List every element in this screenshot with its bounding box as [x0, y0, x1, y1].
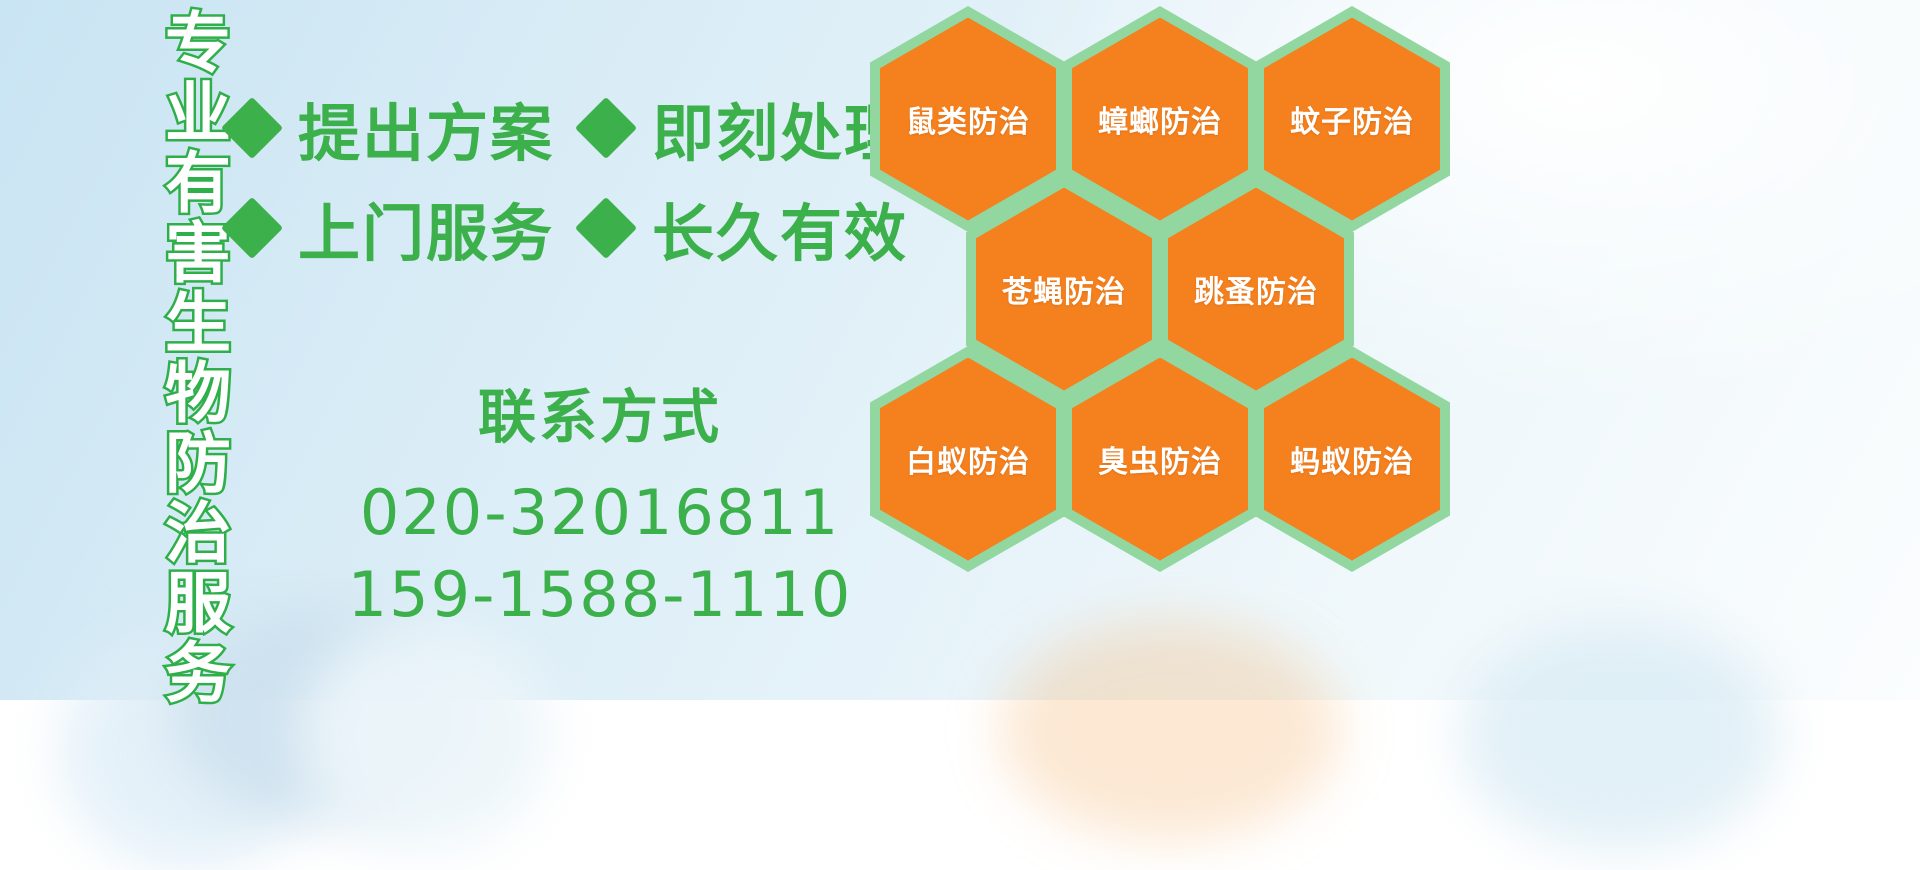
hex-inner: 蚊子防治	[1264, 18, 1440, 221]
phone-mobile[interactable]: 159-1588-1110	[300, 554, 900, 636]
feature-label: 上门服务	[298, 183, 554, 273]
feature-row: 提出方案 即刻处理	[230, 78, 890, 178]
hex-label: 蟑螂防治	[1098, 97, 1222, 141]
contact-block: 联系方式 020-32016811 159-1588-1110	[300, 388, 900, 636]
hex-label: 白蚁防治	[906, 437, 1030, 481]
diamond-icon	[575, 197, 637, 259]
hex-label: 苍蝇防治	[1002, 267, 1126, 311]
feature-row: 上门服务 长久有效	[230, 178, 890, 278]
contact-title: 联系方式	[300, 388, 900, 446]
pest-control-banner: 专业有害生物防治服务 提出方案 即刻处理 上门服务 长久有效 联系方式 020-…	[0, 0, 1920, 700]
hex-label: 臭虫防治	[1098, 437, 1222, 481]
hex-inner: 苍蝇防治	[976, 188, 1152, 391]
hex-label: 鼠类防治	[906, 97, 1030, 141]
diamond-icon	[575, 97, 637, 159]
service-honeycomb: 鼠类防治 蟑螂防治 蚊子防治 苍蝇防治 跳蚤防治 白蚁防	[862, 0, 1920, 700]
diamond-icon	[221, 197, 283, 259]
feature-list: 提出方案 即刻处理 上门服务 长久有效	[230, 78, 890, 278]
hex-label: 跳蚤防治	[1194, 267, 1318, 311]
phone-landline[interactable]: 020-32016811	[300, 472, 900, 554]
hex-inner: 蟑螂防治	[1072, 18, 1248, 221]
hex-inner: 蚂蚁防治	[1264, 358, 1440, 561]
hex-inner: 臭虫防治	[1072, 358, 1248, 561]
hex-inner: 鼠类防治	[880, 18, 1056, 221]
feature-label: 提出方案	[298, 83, 554, 173]
hex-inner: 白蚁防治	[880, 358, 1056, 561]
hex-label: 蚂蚁防治	[1290, 437, 1414, 481]
background-blur-blob	[300, 620, 550, 850]
vertical-headline: 专业有害生物防治服务	[118, 8, 226, 568]
hex-label: 蚊子防治	[1290, 97, 1414, 141]
diamond-icon	[221, 97, 283, 159]
hex-inner: 跳蚤防治	[1168, 188, 1344, 391]
